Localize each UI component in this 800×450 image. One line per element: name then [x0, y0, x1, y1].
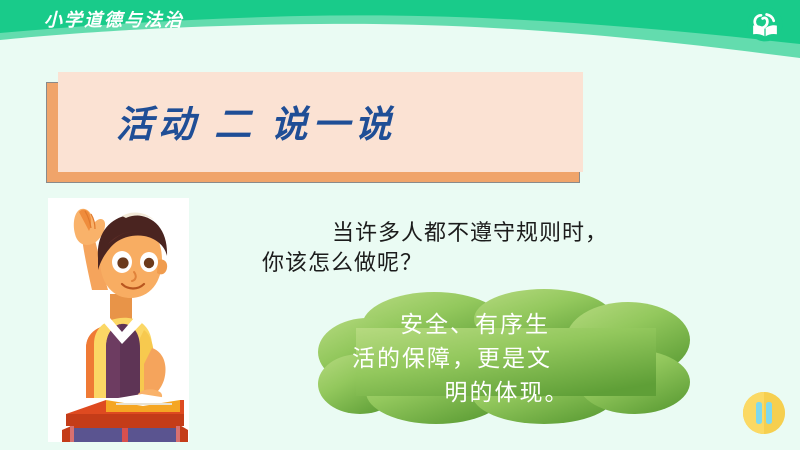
- open-book-logo: [746, 5, 784, 43]
- answer-line-2: 活的保障，更是文: [352, 342, 662, 376]
- answer-line-3: 明的体现。: [352, 376, 662, 410]
- question-line-1: 当许多人都不遵守规则时，: [262, 218, 662, 248]
- slide-canvas: 小学道德与法治 活动 二 说一说: [0, 0, 800, 450]
- student-illustration: [48, 198, 189, 442]
- boy-raising-hand-graphic: [48, 198, 189, 442]
- pause-button[interactable]: [740, 389, 788, 437]
- question-text: 当许多人都不遵守规则时， 你该怎么做呢？: [262, 218, 662, 278]
- question-line-2: 你该怎么做呢？: [262, 248, 662, 278]
- activity-title-text: 活动 二 说一说: [116, 94, 556, 148]
- page-title: 小学道德与法治: [44, 6, 184, 32]
- activity-title-banner: 活动 二 说一说: [46, 72, 583, 184]
- answer-text: 安全、有序生 活的保障，更是文 明的体现。: [352, 308, 662, 410]
- answer-cloud: 安全、有序生 活的保障，更是文 明的体现。: [316, 286, 694, 426]
- answer-line-1: 安全、有序生: [352, 308, 662, 342]
